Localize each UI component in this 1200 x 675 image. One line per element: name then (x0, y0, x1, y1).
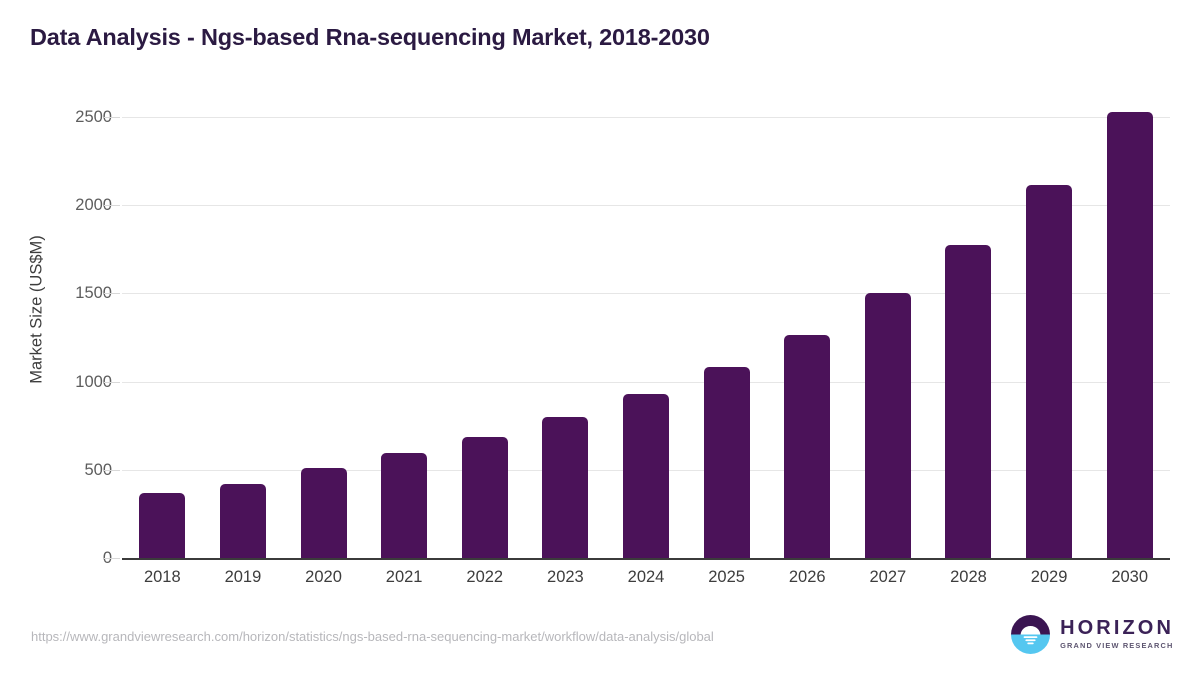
chart-canvas: Market Size (US$M) 05001000150020002500 … (0, 0, 1200, 675)
source-url[interactable]: https://www.grandviewresearch.com/horizo… (31, 629, 714, 644)
bar[interactable] (381, 453, 427, 558)
chart-page: Data Analysis - Ngs-based Rna-sequencing… (0, 0, 1200, 675)
plot-area (122, 117, 1170, 558)
y-axis-ticks: 05001000150020002500 (0, 0, 112, 675)
y-tick-label: 2500 (42, 108, 112, 127)
y-tick-label: 2000 (42, 196, 112, 215)
bar[interactable] (1107, 112, 1153, 558)
bar[interactable] (220, 484, 266, 558)
logo-subtitle: GRAND VIEW RESEARCH (1060, 642, 1174, 649)
x-tick-label: 2029 (1004, 568, 1094, 587)
gridline (122, 117, 1170, 118)
x-tick-label: 2024 (601, 568, 691, 587)
y-tick-mark (104, 470, 120, 471)
y-tick-mark (104, 558, 120, 559)
x-tick-label: 2030 (1085, 568, 1175, 587)
y-tick-label: 1000 (42, 373, 112, 392)
x-tick-label: 2026 (762, 568, 852, 587)
gridline (122, 205, 1170, 206)
x-tick-label: 2028 (923, 568, 1013, 587)
bar[interactable] (301, 468, 347, 558)
x-tick-label: 2020 (279, 568, 369, 587)
x-tick-label: 2018 (117, 568, 207, 587)
x-tick-label: 2023 (520, 568, 610, 587)
x-tick-label: 2021 (359, 568, 449, 587)
x-axis-line (122, 558, 1170, 560)
logo-wordmark: HORIZON (1060, 618, 1174, 638)
x-tick-label: 2025 (682, 568, 772, 587)
y-tick-label: 1500 (42, 284, 112, 303)
horizon-logo[interactable]: HORIZON GRAND VIEW RESEARCH (1010, 612, 1174, 656)
y-tick-mark (104, 382, 120, 383)
y-tick-mark (104, 205, 120, 206)
y-tick-mark (104, 117, 120, 118)
bar[interactable] (704, 367, 750, 558)
bar[interactable] (1026, 185, 1072, 558)
bar[interactable] (945, 245, 991, 558)
x-tick-label: 2022 (440, 568, 530, 587)
x-tick-label: 2019 (198, 568, 288, 587)
gridline (122, 382, 1170, 383)
bar[interactable] (542, 417, 588, 558)
horizon-logo-icon (1010, 614, 1051, 655)
bar[interactable] (623, 394, 669, 558)
horizon-logo-text: HORIZON GRAND VIEW RESEARCH (1060, 618, 1174, 649)
y-tick-label: 500 (42, 461, 112, 480)
bar[interactable] (462, 437, 508, 558)
bar[interactable] (784, 335, 830, 558)
bar[interactable] (139, 493, 185, 558)
x-tick-label: 2027 (843, 568, 933, 587)
gridline (122, 293, 1170, 294)
y-tick-mark (104, 293, 120, 294)
y-tick-label: 0 (42, 549, 112, 568)
bar[interactable] (865, 293, 911, 558)
